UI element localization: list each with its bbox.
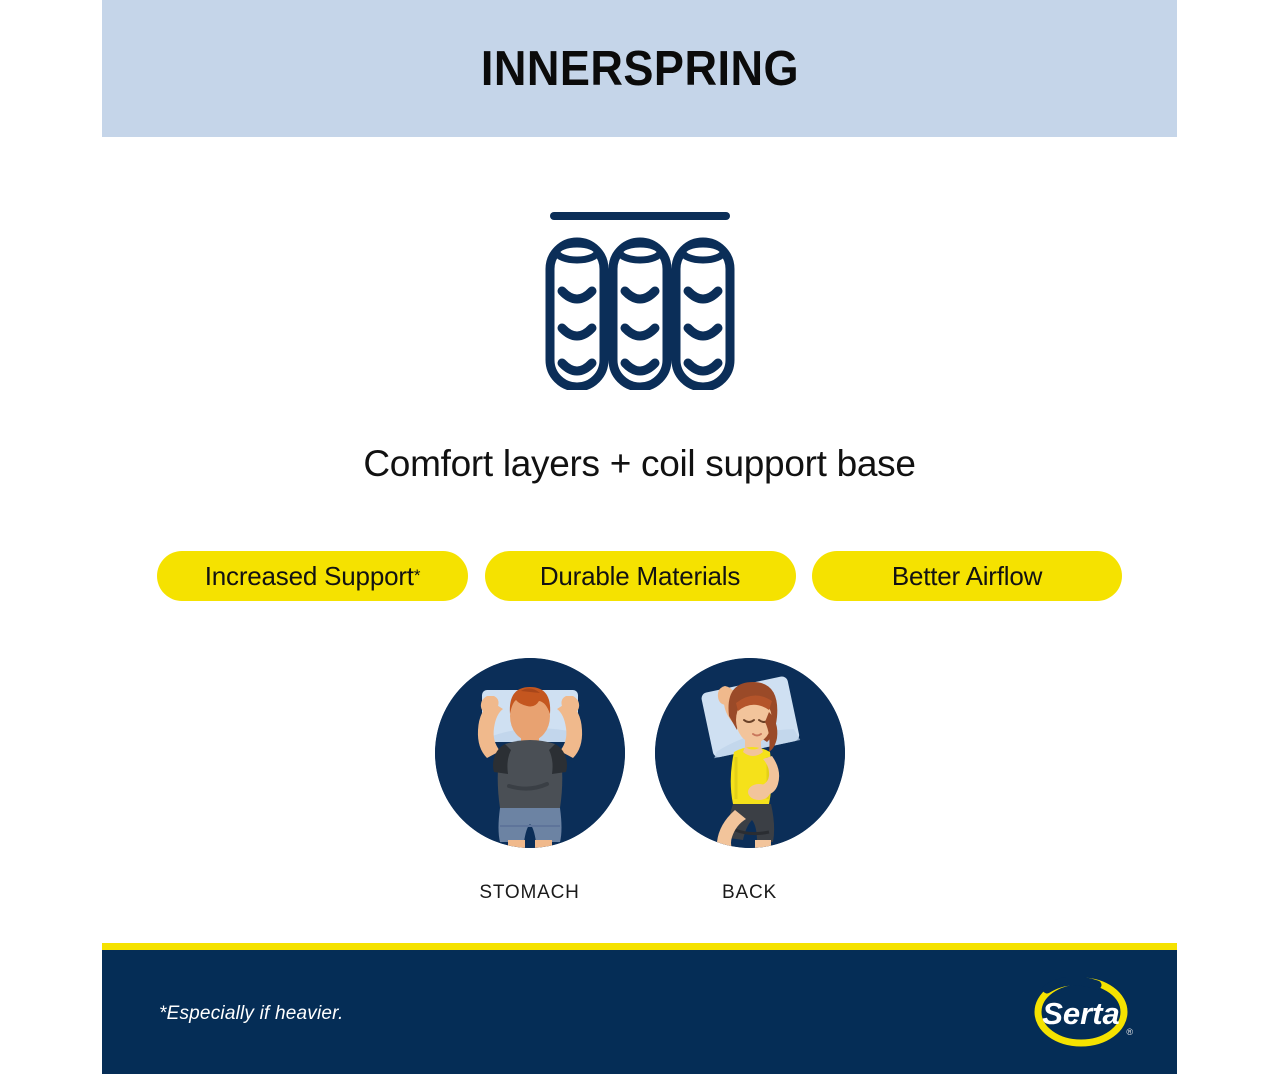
registered-mark: ® — [1126, 1027, 1133, 1037]
subtitle: Comfort layers + coil support base — [102, 443, 1177, 485]
stomach-sleeper-illustration — [435, 658, 625, 848]
page-title: INNERSPRING — [480, 41, 798, 97]
stomach-sleeper-circle — [435, 658, 625, 848]
sleep-position-label-back: BACK — [722, 882, 777, 904]
feature-pill-better-airflow[interactable]: Better Airflow — [812, 551, 1122, 601]
serta-logo: Serta — [1033, 977, 1129, 1047]
feature-pill-durable-materials[interactable]: Durable Materials — [485, 551, 796, 601]
feature-pill-label: Better Airflow — [892, 561, 1042, 592]
feature-pill-increased-support[interactable]: Increased Support* — [157, 551, 468, 601]
back-sleeper-circle — [655, 658, 845, 848]
feature-pill-label: Increased Support — [205, 561, 414, 592]
serta-logo-text: Serta — [1042, 996, 1120, 1031]
sleep-position-stomach[interactable]: STOMACH — [435, 658, 625, 904]
feature-pill-label: Durable Materials — [540, 561, 740, 592]
header-band: INNERSPRING — [102, 0, 1177, 137]
back-sleeper-illustration — [655, 658, 845, 848]
feature-pill-row: Increased Support* Durable Materials Bet… — [157, 551, 1122, 601]
sleep-positions: STOMACH — [102, 658, 1177, 904]
footer-accent-stripe — [102, 943, 1177, 950]
footnote-text: *Especially if heavier. — [159, 1003, 343, 1025]
sleep-position-label-stomach: STOMACH — [479, 882, 579, 904]
innerspring-card: INNERSPRING — [102, 0, 1177, 1074]
sleep-position-back[interactable]: BACK — [655, 658, 845, 904]
coil-support-icon-wrap — [102, 190, 1177, 390]
coil-support-icon — [540, 190, 740, 390]
footer: *Especially if heavier. Serta ® — [102, 950, 1177, 1074]
